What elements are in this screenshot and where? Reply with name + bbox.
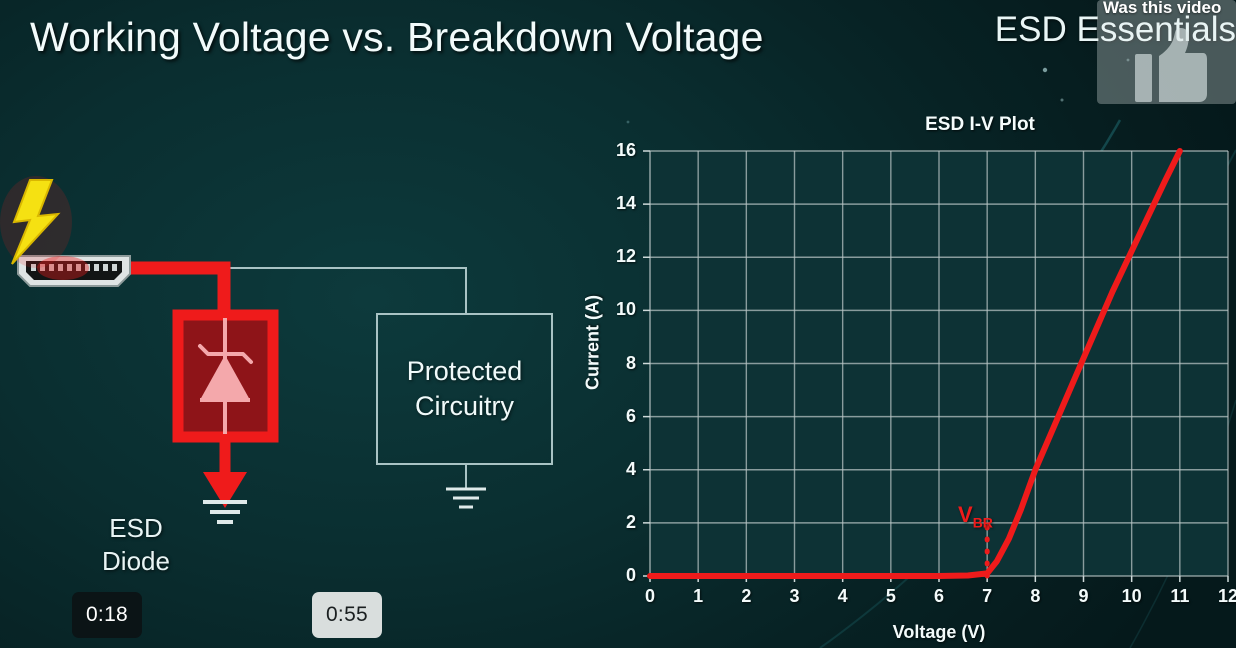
xtick-label: 10 [1117, 586, 1147, 607]
esd-diode-label-line1: ESD [86, 512, 186, 545]
lightning-bolt-icon [0, 176, 72, 268]
signal-wire [224, 268, 466, 313]
xtick-label: 1 [683, 586, 713, 607]
ytick-label: 12 [602, 246, 636, 267]
xtick-label: 11 [1165, 586, 1195, 607]
protected-label-line1: Protected [407, 354, 523, 389]
total-time-badge[interactable]: 0:55 [312, 592, 382, 638]
vbr-main: V [958, 502, 973, 527]
thumbs-up-icon[interactable] [1135, 28, 1207, 102]
ytick-label: 6 [602, 406, 636, 427]
xtick-label: 6 [924, 586, 954, 607]
chart-plot-area [576, 106, 1236, 648]
ytick-label: 4 [602, 459, 636, 480]
slide-canvas: Working Voltage vs. Breakdown Voltage ES… [0, 0, 1236, 648]
ytick-label: 8 [602, 353, 636, 374]
protected-circuitry-block: Protected Circuitry [376, 313, 553, 465]
xtick-label: 4 [828, 586, 858, 607]
chart-title: ESD I-V Plot [576, 114, 1236, 136]
xtick-label: 3 [780, 586, 810, 607]
vbr-sub: BR [973, 514, 993, 530]
ytick-label: 2 [602, 512, 636, 533]
xtick-label: 0 [635, 586, 665, 607]
xtick-label: 2 [731, 586, 761, 607]
esd-diode-symbol[interactable] [178, 315, 273, 437]
feedback-overlay[interactable]: Was this video [1097, 0, 1236, 104]
protected-circuitry-label: Protected Circuitry [407, 354, 523, 424]
protected-label-line2: Circuitry [407, 389, 523, 424]
esd-diode-label: ESD Diode [86, 512, 186, 579]
chart-xlabel: Voltage (V) [650, 622, 1228, 643]
current-time-badge[interactable]: 0:18 [72, 592, 142, 638]
esd-diode-label-line2: Diode [86, 545, 186, 578]
ytick-label: 16 [602, 140, 636, 161]
xtick-label: 7 [972, 586, 1002, 607]
iv-plot: ESD I-V Plot Current (A) Voltage (V) 012… [576, 106, 1236, 648]
ytick-label: 14 [602, 193, 636, 214]
xtick-label: 9 [1069, 586, 1099, 607]
ground-icon-protected [446, 465, 486, 507]
ytick-label: 10 [602, 299, 636, 320]
ytick-label: 0 [602, 565, 636, 586]
xtick-label: 5 [876, 586, 906, 607]
feedback-prompt-label: Was this video [1103, 0, 1221, 18]
xtick-label: 8 [1020, 586, 1050, 607]
breakdown-voltage-label: VBR [958, 502, 993, 530]
xtick-label: 12 [1213, 586, 1236, 607]
chart-ylabel: Current (A) [583, 263, 604, 423]
page-title: Working Voltage vs. Breakdown Voltage [30, 14, 764, 61]
